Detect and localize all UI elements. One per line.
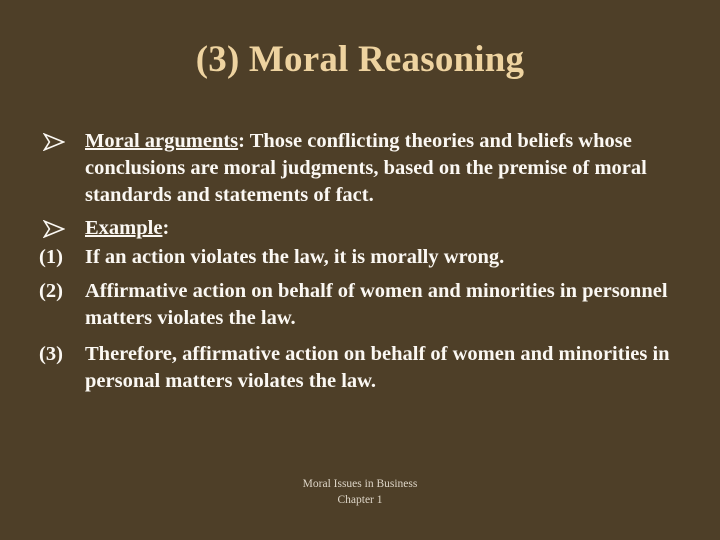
numbered-item-text: Affirmative action on behalf of women an… [85,280,668,329]
slide-footer: Moral Issues in Business Chapter 1 [0,476,720,508]
numbered-item-text: Therefore, affirmative action on behalf … [85,343,670,392]
list-number-marker: (2) [39,278,85,305]
slide-canvas: (3) Moral Reasoning Moral arguments: Tho… [0,0,720,540]
bullet-item-example: Example: [26,215,698,242]
bullet-lead-text: Moral arguments [85,130,238,152]
arrow-bullet-icon [43,220,65,238]
slide-body: Moral arguments: Those conflicting theor… [26,128,698,395]
numbered-item-1: (1) If an action violates the law, it is… [26,244,698,271]
list-number-marker: (1) [39,244,85,271]
list-number-marker: (3) [39,341,85,368]
bullet-item-moral-arguments: Moral arguments: Those conflicting theor… [26,128,698,209]
numbered-item-2: (2) Affirmative action on behalf of wome… [26,278,698,332]
arrow-bullet-icon [43,133,65,151]
bullet-lead-text: Example [85,217,162,239]
page-title: (3) Moral Reasoning [0,38,720,82]
footer-line-chapter: Chapter 1 [0,492,720,508]
footer-line-title: Moral Issues in Business [0,476,720,492]
numbered-item-text: If an action violates the law, it is mor… [85,246,504,268]
bullet-body-text: : [162,217,169,239]
numbered-item-3: (3) Therefore, affirmative action on beh… [26,341,698,395]
